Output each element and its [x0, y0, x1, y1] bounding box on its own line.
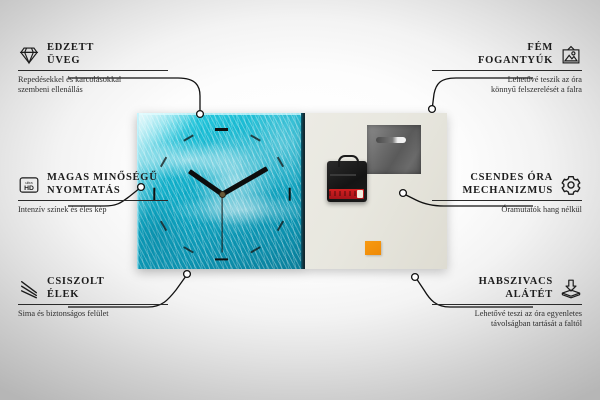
polished-edges-icon: [18, 278, 40, 300]
callout-title-line1: EDZETT: [47, 42, 94, 55]
clock-second-hand: [221, 194, 222, 252]
clock-tick: [250, 247, 260, 254]
clock-tick: [277, 156, 284, 166]
callout-metal-handles: FÉM FOGANTYÚK Lehetővé teszik az óra kön…: [432, 42, 582, 96]
clock-tick: [250, 134, 260, 141]
foam-pad: [365, 241, 381, 255]
callout-title-line2: MECHANIZMUS: [462, 185, 553, 198]
callout-title-line1: HABSZIVACS: [479, 276, 553, 289]
callout-desc-line1: Repedésekkel és karcolásokkal: [18, 75, 168, 86]
callout-header: HABSZIVACS ALÁTÉT: [432, 276, 582, 301]
callout-high-quality-print: ultra HD MAGAS MINŐSÉGŰ NYOMTATÁS Intenz…: [18, 172, 168, 215]
metal-hanger: [367, 125, 421, 174]
diamond-icon: [18, 44, 40, 66]
callout-tempered-glass: EDZETT ÜVEG Repedésekkel és karcolásokka…: [18, 42, 168, 96]
ultra-hd-icon: ultra HD: [18, 174, 40, 196]
callout-desc-line1: Sima és biztonságos felület: [18, 309, 168, 320]
callout-desc-line2: szembeni ellenállás: [18, 85, 168, 96]
callout-rule: [18, 304, 168, 305]
clock-back-panel: [305, 113, 447, 269]
callout-title-line2: ALÁTÉT: [479, 289, 553, 302]
callout-desc-line1: Intenzív színek és éles kép: [18, 205, 168, 216]
callout-desc-line1: Lehetővé teszik az óra: [432, 75, 582, 86]
battery: [329, 189, 364, 199]
callout-header: FÉM FOGANTYÚK: [432, 42, 582, 67]
callout-rule: [432, 70, 582, 71]
callout-header: ultra HD MAGAS MINŐSÉGŰ NYOMTATÁS: [18, 172, 168, 197]
callout-title-line2: ÉLEK: [47, 289, 105, 302]
callout-title-line2: FOGANTYÚK: [478, 55, 553, 68]
connector-dot-foam-pad: [412, 274, 419, 281]
callout-header: EDZETT ÜVEG: [18, 42, 168, 67]
callout-rule: [18, 200, 168, 201]
callout-rule: [432, 304, 582, 305]
clock-tick: [183, 134, 193, 141]
gear-icon: [560, 174, 582, 196]
svg-text:HD: HD: [24, 185, 34, 192]
callout-title-line1: FÉM: [478, 42, 553, 55]
callout-polished-edges: CSISZOLT ÉLEK Sima és biztonságos felüle…: [18, 276, 168, 319]
clock-tick: [288, 188, 290, 201]
hanger-slot: [376, 137, 406, 143]
callout-desc-line2: könnyű felszerelését a falra: [432, 85, 582, 96]
mechanism-loop: [338, 155, 359, 167]
battery-plus-terminal: [357, 190, 363, 198]
callout-foam-pad: HABSZIVACS ALÁTÉT Lehetővé teszi az óra …: [432, 276, 582, 330]
product-image: [137, 113, 447, 269]
callout-title-line1: CSENDES ÓRA: [462, 172, 553, 185]
connector-dot-polished-edges: [184, 271, 191, 278]
callout-desc-line1: Lehetővé teszi az óra egyenletes: [432, 309, 582, 320]
clock-tick: [160, 221, 167, 231]
clock-tick: [277, 221, 284, 231]
connector-dot-metal-handles: [429, 106, 436, 113]
clock-hour-hand: [188, 169, 223, 196]
clock-minute-hand: [221, 166, 268, 196]
callout-rule: [432, 200, 582, 201]
callout-title-line2: NYOMTATÁS: [47, 185, 158, 198]
clock-center-pin: [219, 191, 226, 198]
callout-desc-line1: Óramutatók hang nélkül: [432, 205, 582, 216]
clock-tick: [215, 258, 228, 260]
callout-silent-mechanism: CSENDES ÓRA MECHANIZMUS Óramutatók hang …: [432, 172, 582, 215]
picture-frame-hanger-icon: [560, 44, 582, 66]
callout-title-line1: CSISZOLT: [47, 276, 105, 289]
clock-tick: [160, 156, 167, 166]
clock-tick: [183, 247, 193, 254]
clock-mechanism: [327, 161, 367, 202]
callout-header: CSENDES ÓRA MECHANIZMUS: [432, 172, 582, 197]
foam-pad-arrow-icon: [560, 278, 582, 300]
callout-rule: [18, 70, 168, 71]
clock-tick: [215, 128, 228, 130]
callout-title-line2: ÜVEG: [47, 55, 94, 68]
infographic-canvas: EDZETT ÜVEG Repedésekkel és karcolásokka…: [0, 0, 600, 400]
callout-header: CSISZOLT ÉLEK: [18, 276, 168, 301]
callout-title-line1: MAGAS MINŐSÉGŰ: [47, 172, 158, 185]
mechanism-seam: [330, 174, 356, 176]
callout-desc-line2: távolságban tartását a faltól: [432, 319, 582, 330]
